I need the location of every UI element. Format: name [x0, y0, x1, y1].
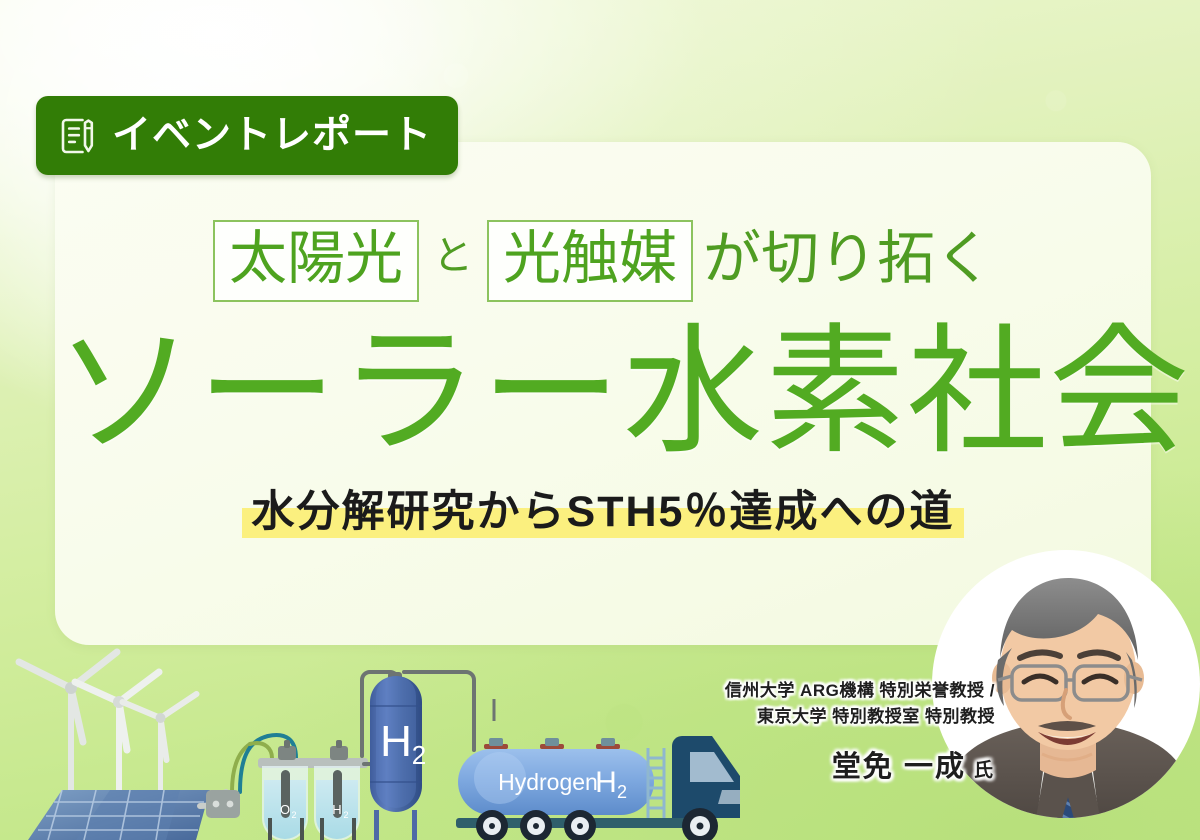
speaker-affiliation-line-2: 東京大学 特別教授室 特別教授	[555, 704, 995, 730]
power-converter	[206, 790, 240, 818]
subtitle: 水分解研究からSTH5％達成への道	[242, 490, 965, 536]
electrolysis-cell-o2: O 2	[262, 766, 308, 840]
kicker-boxed-term-1: 太陽光	[213, 220, 419, 302]
electrolysis-rig: O 2 H 2	[258, 740, 368, 840]
speaker-affiliation-line-1: 信州大学 ARG機構 特別栄誉教授 /	[555, 678, 995, 704]
headline-kicker: 太陽光 と 光触媒 が切り拓く	[55, 220, 1151, 302]
speaker-name: 堂免 一成氏	[555, 743, 995, 785]
headline-block: 太陽光 と 光触媒 が切り拓く ソーラー水素社会 水分解研究からSTH5％達成へ…	[55, 142, 1151, 536]
kicker-boxed-term-2: 光触媒	[487, 220, 693, 302]
speaker-name-text: 堂免 一成	[832, 751, 966, 783]
svg-text:H: H	[380, 717, 412, 766]
subtitle-text: 水分解研究からSTH5％達成への道	[252, 488, 955, 536]
event-report-badge[interactable]: イベントレポート	[36, 96, 458, 175]
svg-text:2: 2	[617, 782, 627, 802]
svg-text:2: 2	[412, 740, 426, 770]
kicker-conjunction: と	[429, 236, 477, 286]
speaker-name-suffix: 氏	[974, 760, 995, 781]
svg-text:2: 2	[343, 810, 348, 820]
subtitle-wrap: 水分解研究からSTH5％達成への道	[55, 490, 1151, 536]
speaker-info: 信州大学 ARG機構 特別栄誉教授 / 東京大学 特別教授室 特別教授 堂免 一…	[555, 678, 995, 785]
solar-panel-array	[28, 790, 210, 840]
svg-text:O: O	[280, 802, 290, 817]
kicker-tail: が切り拓く	[703, 230, 993, 292]
main-title: ソーラー水素社会	[55, 324, 1151, 464]
event-report-badge-label: イベントレポート	[112, 116, 432, 155]
hydrogen-storage-tank: H 2	[370, 672, 426, 840]
svg-text:H: H	[332, 802, 341, 817]
document-pencil-icon	[60, 117, 96, 155]
hero-banner: イベントレポート 太陽光 と 光触媒 が切り拓く ソーラー水素社会 水分解研究か…	[0, 0, 1200, 840]
wind-turbine	[19, 652, 117, 808]
electrolysis-cell-h2: H 2	[314, 766, 360, 840]
svg-text:2: 2	[291, 810, 296, 820]
